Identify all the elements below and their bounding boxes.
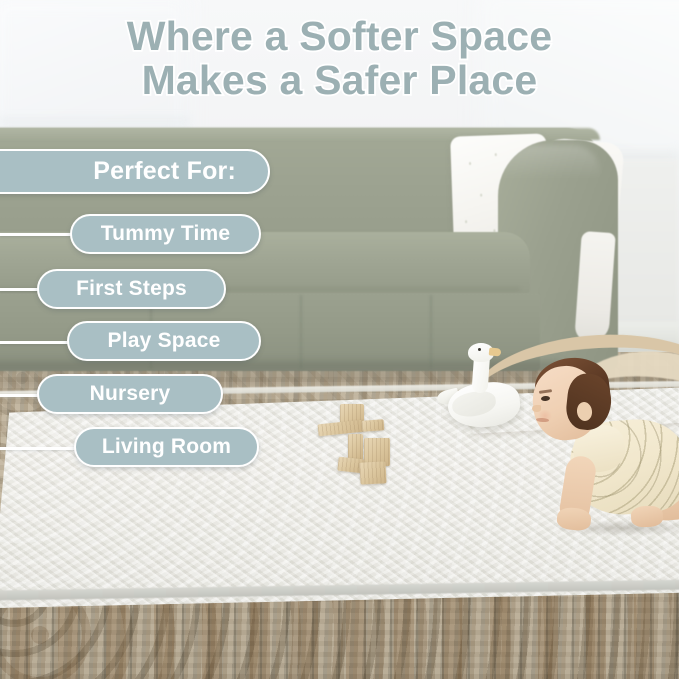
- headline: Where a Softer Space Makes a Safer Place: [0, 14, 679, 102]
- headline-line-1: Where a Softer Space: [127, 13, 553, 59]
- goose-beak: [489, 347, 502, 356]
- ad-scene: Where a Softer Space Makes a Safer Place…: [0, 0, 679, 679]
- connector-line-nursery: [0, 394, 42, 397]
- callout-item-tummy-time[interactable]: Tummy Time: [70, 214, 261, 254]
- baby-nose: [532, 405, 541, 412]
- callout-item-label: Play Space: [108, 329, 221, 353]
- callout-item-nursery[interactable]: Nursery: [37, 374, 223, 414]
- callout-item-label: Living Room: [102, 435, 231, 459]
- connector-line-living-room: [0, 447, 79, 450]
- callout-item-label: First Steps: [76, 277, 187, 301]
- callout-item-label: Nursery: [90, 382, 171, 406]
- connector-line-first-steps: [0, 288, 42, 291]
- callout-item-first-steps[interactable]: First Steps: [37, 269, 226, 309]
- headline-line-2: Makes a Safer Place: [0, 58, 679, 102]
- window-mullion-upper: [0, 118, 190, 122]
- sofa-arm-highlight: [500, 145, 600, 179]
- callout-item-living-room[interactable]: Living Room: [74, 427, 259, 467]
- connector-line-tummy-time: [0, 233, 74, 236]
- callout-heading-label: Perfect For:: [93, 157, 236, 186]
- baby-hand-right: [630, 505, 663, 528]
- wooden-toy-blocks: [318, 404, 398, 480]
- callout-item-play-space[interactable]: Play Space: [67, 321, 261, 361]
- baby-crawling: [505, 352, 679, 542]
- goose-eye: [478, 348, 481, 351]
- connector-line-play-space: [0, 341, 72, 344]
- callout-heading-pill[interactable]: Perfect For:: [0, 149, 270, 194]
- callout-item-label: Tummy Time: [101, 222, 231, 246]
